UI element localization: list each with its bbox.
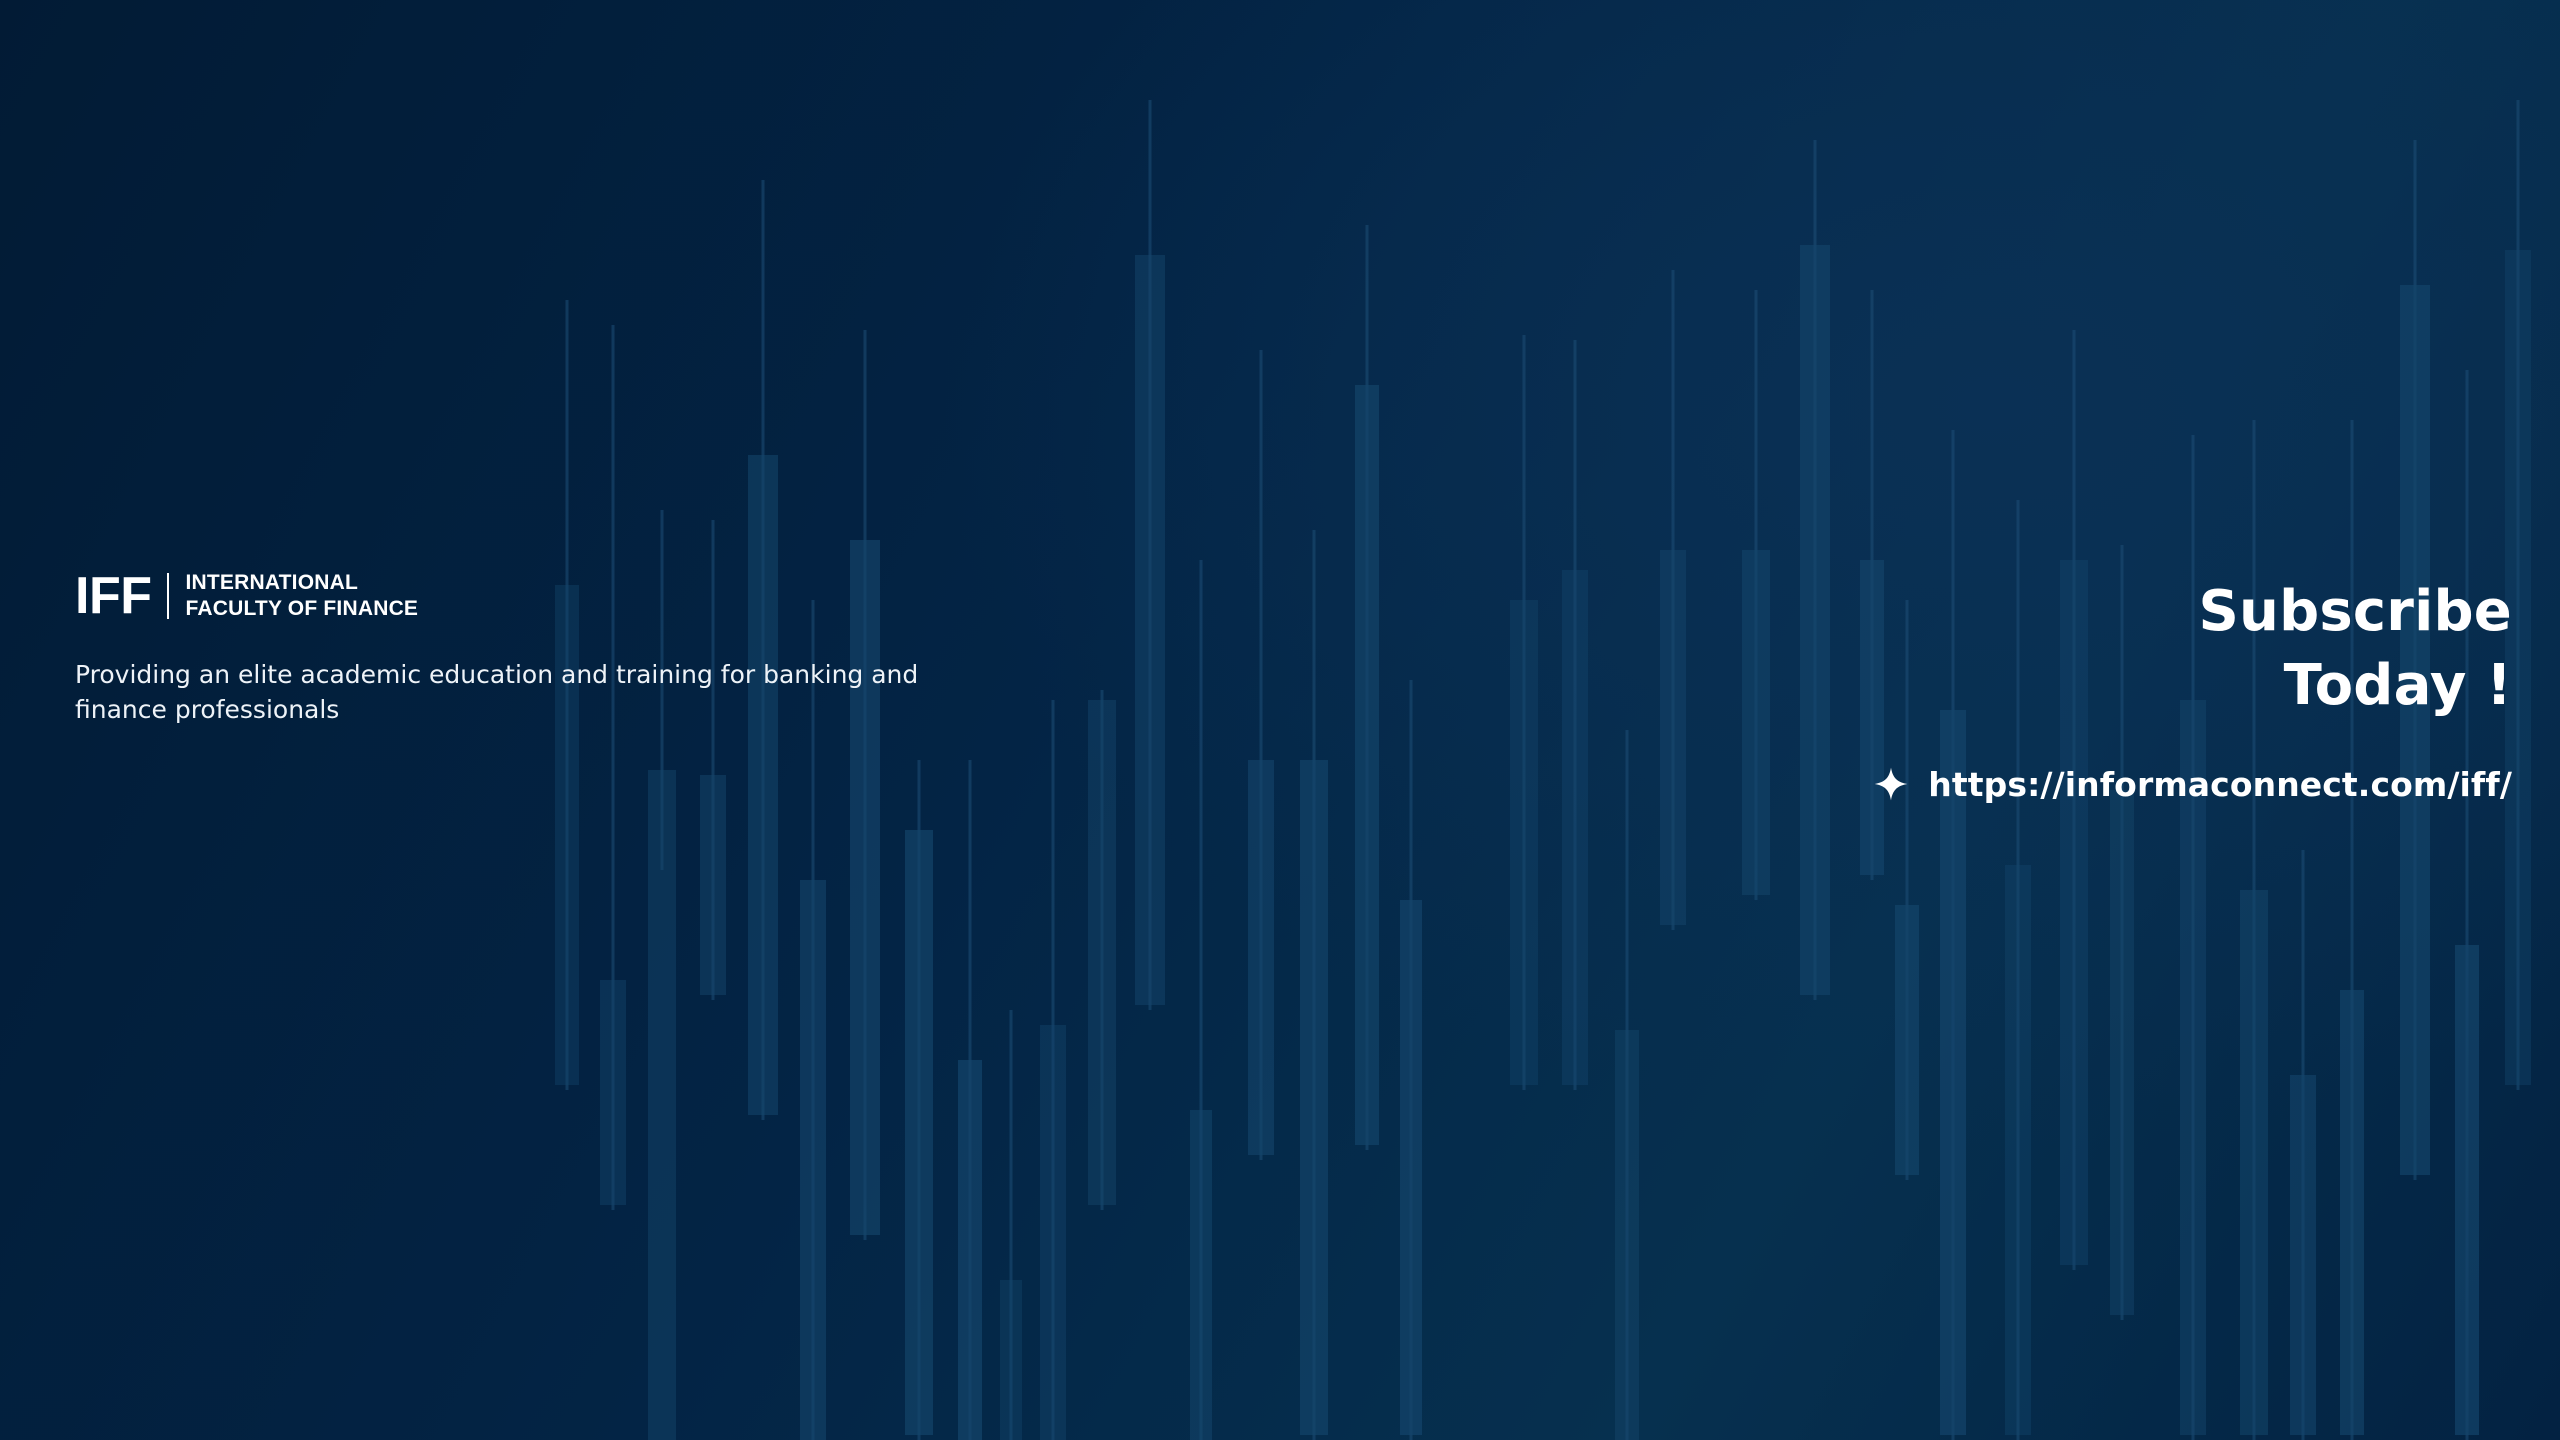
candlestick (1355, 0, 1379, 1440)
cta-block: Subscribe Today ! https://informaconnect… (1532, 575, 2512, 804)
cta-heading: Subscribe Today ! (1532, 575, 2512, 723)
candlestick-body (1248, 760, 1274, 1155)
brand-tagline: Providing an elite academic education an… (75, 658, 975, 727)
candlestick-wick (1626, 730, 1629, 1440)
candlestick-body (2110, 790, 2134, 1315)
candlestick-body (1135, 255, 1165, 1005)
sparkle-icon (1874, 767, 1908, 801)
candlestick-body (958, 1060, 982, 1440)
candlestick-body (748, 455, 778, 1115)
candlestick-body (1400, 900, 1422, 1435)
candlestick (1190, 0, 1212, 1440)
candlestick-wick (1410, 680, 1413, 1440)
cta-link-row[interactable]: https://informaconnect.com/iff/ (1532, 765, 2512, 804)
candlestick-wick (1260, 350, 1263, 1160)
promo-banner: IFF INTERNATIONAL FACULTY OF FINANCE Pro… (0, 0, 2560, 1440)
candlestick-wick (612, 325, 615, 1210)
candlestick-wick (1010, 1010, 1013, 1440)
candlestick-body (2455, 945, 2479, 1435)
candlestick (1088, 0, 1116, 1440)
candlestick-wick (969, 760, 972, 1440)
candlestick-wick (2517, 100, 2520, 1090)
candlestick-wick (918, 760, 921, 1440)
candlestick-body (600, 980, 626, 1205)
candlestick-body (1300, 760, 1328, 1435)
candlestick-body (2005, 865, 2031, 1435)
candlestick-body (2340, 990, 2364, 1435)
brand-block: IFF INTERNATIONAL FACULTY OF FINANCE Pro… (75, 570, 1075, 752)
candlestick-body (1040, 1025, 1066, 1440)
candlestick-body (1355, 385, 1379, 1145)
logo-wordmark-line-1: INTERNATIONAL (185, 572, 418, 594)
candlestick-wick (1366, 225, 1369, 1150)
candlestick-wick (2302, 850, 2305, 1440)
candlestick-body (700, 775, 726, 995)
candlestick-wick (864, 330, 867, 1240)
candlestick-body (1895, 905, 1919, 1175)
cta-heading-line-1: Subscribe (1532, 575, 2512, 649)
candlestick (1300, 0, 1328, 1440)
cta-heading-line-2: Today ! (1532, 649, 2512, 723)
candlestick-body (800, 880, 826, 1440)
candlestick-body (2180, 700, 2206, 1435)
candlestick-body (1940, 710, 1966, 1435)
candlestick-wick (1052, 700, 1055, 1440)
candlestick-body (1088, 700, 1116, 1205)
candlestick-wick (1149, 100, 1152, 1010)
logo-mark-iff: IFF (75, 570, 167, 622)
candlestick-wick (1814, 140, 1817, 1000)
candlestick-body (905, 830, 933, 1435)
candlestick-wick (1101, 690, 1104, 1210)
iff-logo: IFF INTERNATIONAL FACULTY OF FINANCE (75, 570, 1075, 622)
candlestick-body (1615, 1030, 1639, 1440)
candlestick-wick (2253, 420, 2256, 1440)
candlestick (1135, 0, 1165, 1440)
subscribe-url-link[interactable]: https://informaconnect.com/iff/ (1928, 765, 2512, 804)
candlestick-wick (2466, 370, 2469, 1440)
candlestick-wick (1200, 560, 1203, 1440)
logo-wordmark: INTERNATIONAL FACULTY OF FINANCE (185, 572, 418, 619)
candlestick-body (1190, 1110, 1212, 1440)
candlestick-body (648, 770, 676, 1440)
candlestick (1400, 0, 1422, 1440)
logo-wordmark-line-2: FACULTY OF FINANCE (185, 598, 418, 620)
candlestick-wick (1523, 335, 1526, 1090)
candlestick-body (1000, 1280, 1022, 1440)
candlestick-wick (1313, 530, 1316, 1440)
candlestick (1248, 0, 1274, 1440)
candlestick-wick (2351, 420, 2354, 1440)
logo-divider-rule (167, 573, 169, 619)
candlestick-body (2240, 890, 2268, 1435)
candlestick-body (2290, 1075, 2316, 1435)
